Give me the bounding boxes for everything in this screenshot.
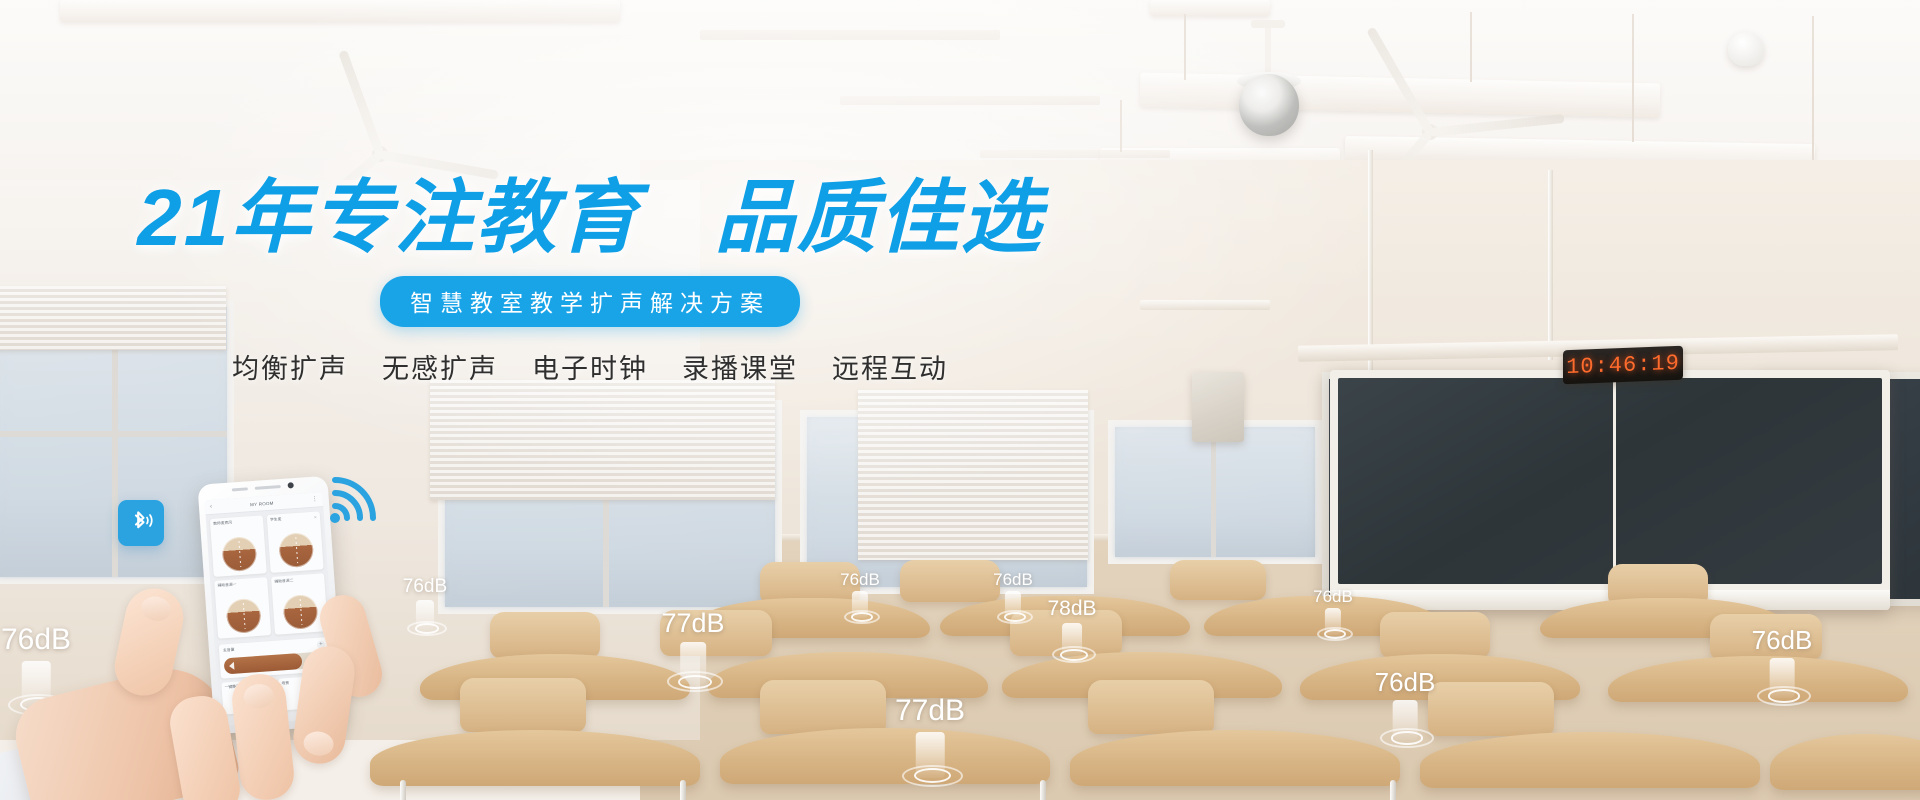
headline-block: 21年专注教育 品质佳选 智慧教室教学扩声解决方案 均衡扩声无感扩声电子时钟录播… [0,178,1180,386]
ceiling-speaker-icon [1728,32,1764,66]
desk [1070,730,1400,786]
sound-meter: 76dB [842,570,878,628]
sound-meter-value: 77dB [661,608,724,639]
wall-speaker-icon [1192,372,1244,442]
chair [1380,612,1490,658]
page-title: 21年专注教育 品质佳选 [0,178,1180,258]
ceiling-hanger [1184,14,1186,80]
desk [1770,734,1920,790]
sound-meter: 76dB [1378,667,1433,755]
channel-card[interactable]: 辅助音源二 [271,573,328,635]
desk-leg [1390,780,1396,800]
headline-right: 品质佳选 [715,173,1043,262]
ceiling-hanger [1632,14,1634,142]
volume-knob[interactable] [221,536,257,572]
channel-label: 辅助音源二 [274,576,321,584]
clock-time: 10:46:19 [1566,350,1680,379]
keyword-5: 远程互动 [832,347,948,386]
app-title: MY ROOM [250,500,274,507]
led-clock-icon: 10:46:19 [1563,346,1683,385]
window-blind [858,390,1088,560]
sound-ripple [667,671,722,692]
sound-meter-value: 76dB [1752,625,1813,656]
chair [1088,680,1214,734]
volume-knob[interactable] [225,598,261,634]
sound-ripple [1317,627,1353,642]
volume-knob[interactable] [282,594,318,630]
wifi-signal-icon [325,470,387,533]
sound-meter: 76dB [995,570,1031,628]
subtitle-pill: 智慧教室教学扩声解决方案 [380,276,800,327]
channel-label: 教师麦克风 [213,519,260,527]
sound-meter-value: 76dB [993,570,1033,590]
chair [1170,560,1266,600]
sound-meter: 76dB [1315,587,1351,645]
channel-label: 学生麦 [270,515,317,523]
sound-ripple [1052,646,1096,663]
sound-meter-value: 77dB [895,694,965,728]
sound-ripple [844,610,880,625]
sound-meter: 77dB [665,608,722,700]
ceiling-hanger [1470,12,1472,82]
sound-meter: 78dB [1050,597,1094,668]
chair [1428,682,1554,736]
front-camera-icon [287,482,293,488]
sound-meter-value: 76dB [840,570,880,590]
sound-meter-value: 76dB [1313,587,1353,607]
desk-leg [680,780,686,800]
volume-knob[interactable] [278,532,314,568]
bluetooth-icon [118,500,164,546]
ceiling-panel [60,0,620,22]
classroom-promo-banner: 10:46:19 [0,0,1920,800]
headline-left: 21年专注教育 [137,173,640,262]
slider-handle[interactable] [229,662,235,670]
sound-ripple [997,610,1033,625]
ceiling-panel [1150,0,1270,16]
channel-label: 辅助音源一 [217,580,264,588]
overflow-menu-icon[interactable]: ⋮ [312,496,318,502]
keyword-row: 均衡扩声无感扩声电子时钟录播课堂远程互动 [0,347,1180,386]
sound-meter: 77dB [899,694,962,796]
sound-meter-value: 76dB [1375,667,1436,698]
desk-leg [1040,780,1046,800]
chair [900,560,1000,602]
sound-meter: 76dB [1755,625,1810,713]
sound-meter-value: 78dB [1047,597,1096,621]
back-icon[interactable]: ‹ [210,504,212,510]
keyword-2: 无感扩声 [382,347,498,386]
channel-card[interactable]: 辅助音源一 [214,577,271,639]
keyword-1: 均衡扩声 [232,347,348,386]
sound-ripple [1380,728,1433,748]
slider-fill [224,653,302,674]
desk [1420,732,1760,788]
desk [720,728,1050,784]
channel-grid: 教师麦克风 学生麦 ✕ 辅助音源一 辅助音 [206,507,333,643]
sound-ripple [1757,686,1810,706]
channel-card[interactable]: 学生麦 ✕ [267,511,324,573]
ceiling-slot [840,96,1100,105]
ceiling-hanger [1120,100,1122,152]
sound-ripple [902,765,963,788]
ceiling-slot [700,30,1000,40]
chair [760,680,886,734]
mute-icon[interactable]: ✕ [313,515,317,520]
wall-pole [1548,170,1553,360]
keyword-3: 电子时钟 [532,347,648,386]
channel-card[interactable]: 教师麦克风 [210,515,267,577]
ceiling-slot [980,150,1170,158]
keyword-4: 录播课堂 [682,347,798,386]
